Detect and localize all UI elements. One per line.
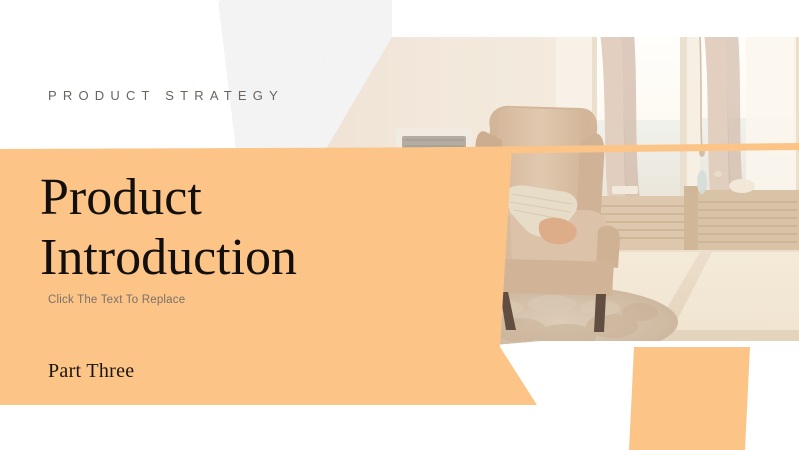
slide-eyebrow-label[interactable]: PRODUCT STRATEGY xyxy=(48,89,284,102)
slide-subtitle-placeholder[interactable]: Click The Text To Replace xyxy=(48,295,185,307)
title-line-one: Product xyxy=(40,168,460,228)
title-line-two: Introduction xyxy=(40,228,460,288)
slide-text-layer: PRODUCT STRATEGY Product Introduction Cl… xyxy=(0,0,799,450)
presentation-slide: PRODUCT STRATEGY Product Introduction Cl… xyxy=(0,0,799,450)
slide-title[interactable]: Product Introduction xyxy=(40,168,460,288)
slide-part-label[interactable]: Part Three xyxy=(48,361,135,381)
